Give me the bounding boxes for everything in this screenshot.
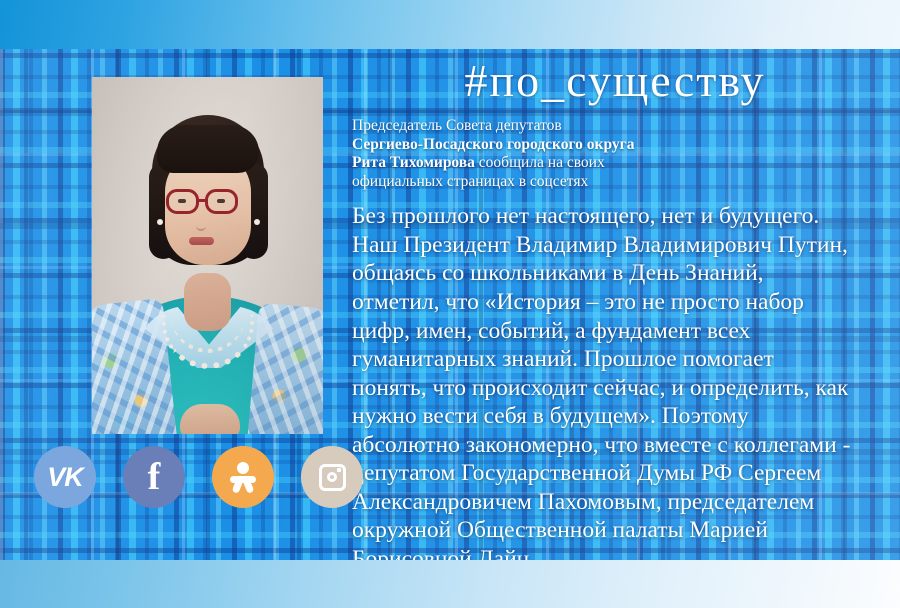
subtitle-line-4: официальных страницах в соцсетях [352, 173, 892, 192]
subtitle-line-3-rest: сообщила на своих [475, 154, 605, 171]
bottom-gradient-band [0, 560, 900, 608]
social-media-poster: #по_существу Председатель Совета депутат… [0, 0, 900, 608]
vk-glyph: VK [47, 464, 83, 491]
text-column: #по_существу Председатель Совета депутат… [352, 58, 892, 573]
odnoklassniki-icon[interactable] [212, 446, 274, 508]
facebook-icon[interactable]: f [123, 446, 185, 508]
subtitle-line-2: Сергиево-Посадского городского округа [352, 136, 892, 155]
subtitle-block: Председатель Совета депутатов Сергиево-П… [352, 117, 892, 191]
facebook-glyph: f [148, 458, 161, 496]
portrait-photo [92, 77, 323, 434]
instagram-camera-glyph [319, 464, 346, 491]
photo-shading [92, 77, 323, 434]
instagram-lens [327, 472, 337, 482]
social-icons-row: VK f [34, 446, 363, 508]
ok-head [237, 462, 249, 474]
odnoklassniki-glyph [230, 462, 256, 492]
instagram-icon[interactable] [301, 446, 363, 508]
official-name: Рита Тихомирова [352, 154, 475, 171]
top-gradient-band [0, 0, 900, 49]
instagram-flash-dot [337, 468, 341, 472]
subtitle-line-3: Рита Тихомирова сообщила на своих [352, 154, 892, 173]
vk-icon[interactable]: VK [34, 446, 96, 508]
subtitle-line-1: Председатель Совета депутатов [352, 117, 892, 136]
body-text: Без прошлого нет настоящего, нет и будущ… [352, 202, 852, 573]
hashtag-title: #по_существу [352, 58, 892, 104]
